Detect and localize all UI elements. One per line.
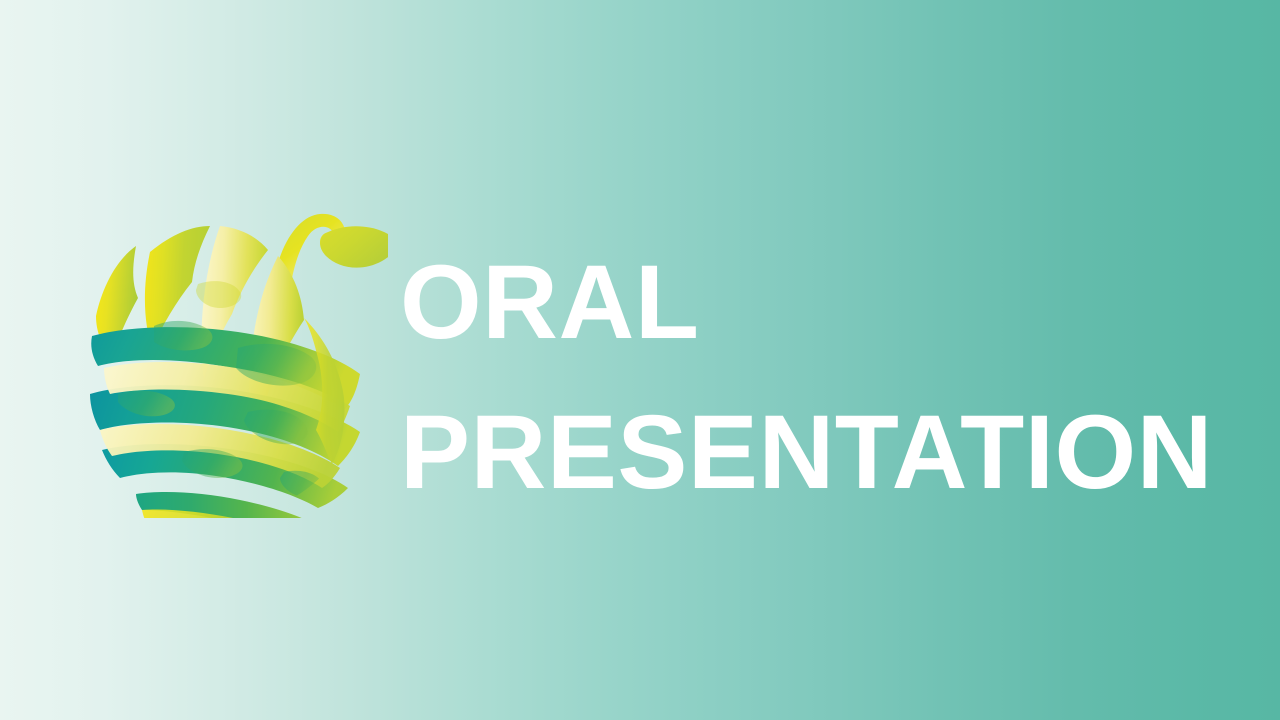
presentation-slide: ORAL PRESENTATION: [0, 0, 1280, 720]
headline-line-two: PRESENTATION: [400, 378, 1220, 528]
headline-line-one: ORAL: [400, 228, 1220, 378]
globe-ribbon-logo: [88, 198, 388, 518]
slide-headline: ORAL PRESENTATION: [400, 228, 1220, 528]
